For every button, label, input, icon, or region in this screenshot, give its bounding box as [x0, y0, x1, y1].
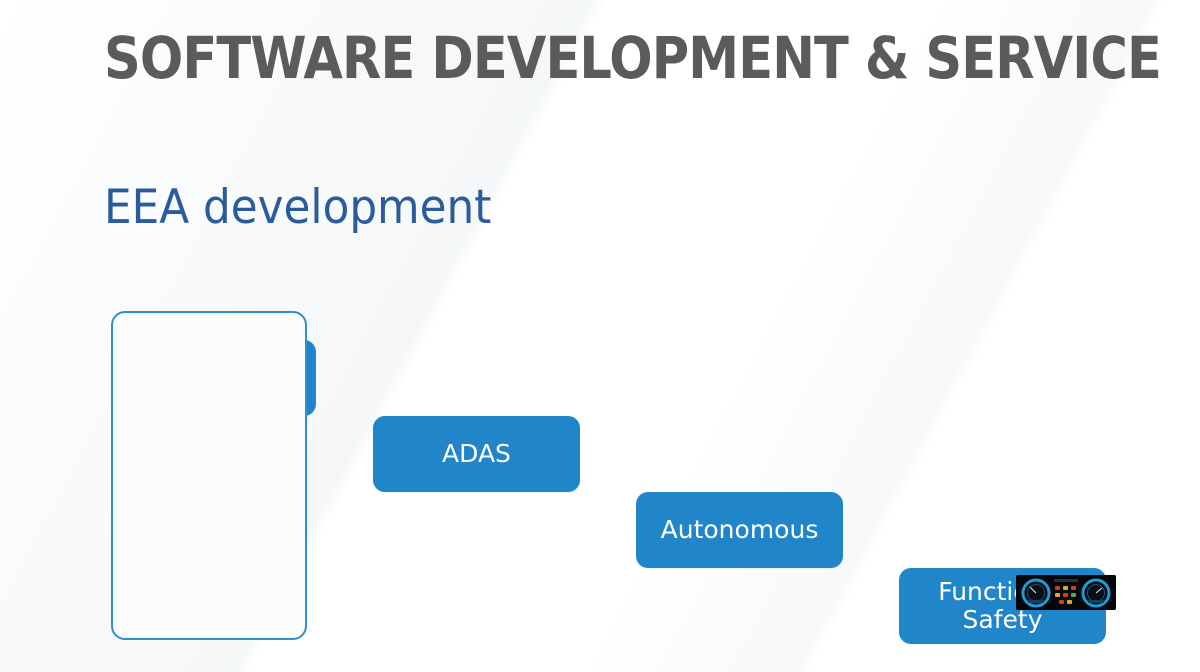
inputs-panel	[111, 311, 307, 640]
column-header-label: ADAS	[442, 440, 511, 468]
instrument-cluster-artwork	[1016, 575, 1116, 610]
page-subtitle: EEA development	[104, 180, 1200, 235]
column-header-adas[interactable]: ADAS	[373, 416, 580, 492]
slide-canvas: SOFTWARE DEVELOPMENT & SERVICE EEA devel…	[0, 0, 1200, 672]
page-title: SOFTWARE DEVELOPMENT & SERVICE	[104, 24, 1160, 92]
column-header-autonomous[interactable]: Autonomous	[636, 492, 843, 568]
column-header-label: Autonomous	[661, 516, 819, 544]
